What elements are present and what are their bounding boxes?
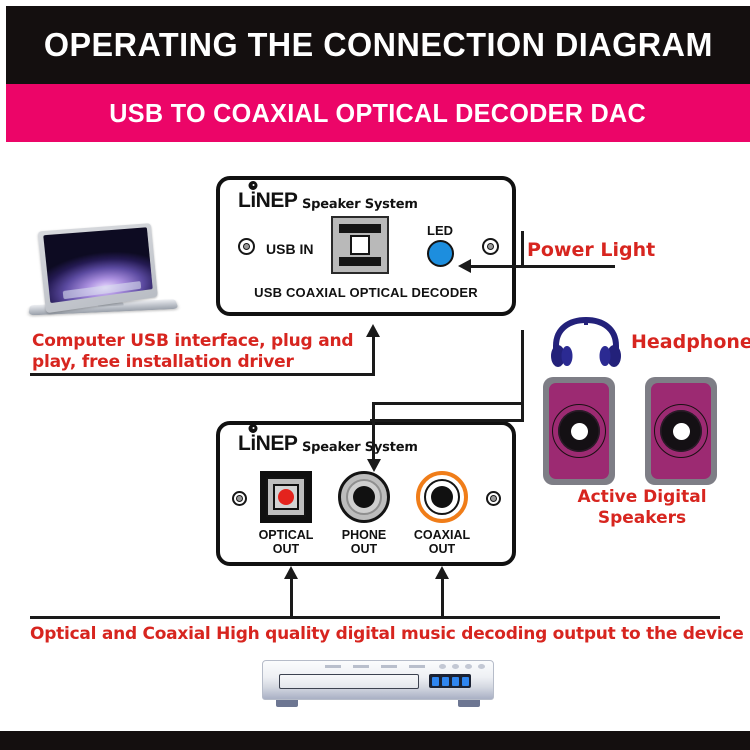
brand-wordmark: LiNEP	[238, 190, 297, 211]
page-title: OPERATING THE CONNECTION DIAGRAM	[43, 26, 712, 64]
page-subtitle: USB TO COAXIAL OPTICAL DECODER DAC	[110, 98, 647, 129]
usb-decoder-top-unit[interactable]: LiNEP Speaker System USB IN LED USB COAX…	[216, 176, 516, 316]
brand-lens-icon: i	[250, 433, 255, 454]
optical-red-light-icon	[278, 489, 294, 505]
diagram-canvas: OPERATING THE CONNECTION DIAGRAM USB TO …	[0, 0, 750, 750]
optical-out-riser	[290, 578, 293, 618]
headphone-icon	[546, 316, 626, 368]
dvd-buttons[interactable]	[439, 664, 485, 669]
screw-top-left	[238, 238, 255, 255]
toslink-optical-port-icon[interactable]	[260, 471, 312, 523]
brand-logo-bottom: LiNEP Speaker System	[238, 433, 418, 454]
toslink-inner	[266, 477, 306, 517]
power-light-note: Power Light	[527, 239, 655, 261]
power-light-arrow	[458, 259, 471, 273]
screw-top-right	[482, 238, 499, 255]
phone-out-feed-horizontal	[372, 402, 522, 405]
speaker-face	[549, 383, 609, 479]
dvd-body	[262, 660, 494, 700]
laptop-dock	[63, 281, 142, 299]
headphone-bus-vertical	[521, 330, 524, 422]
headphone-bus-horizontal	[370, 419, 524, 422]
brand-tagline: Speaker System	[302, 441, 418, 454]
speaker-cone	[654, 404, 708, 458]
coaxial-jack-ring	[424, 479, 460, 515]
coaxial-out-arrow	[435, 566, 449, 579]
led-label: LED	[427, 223, 453, 238]
usb-in-label: USB IN	[266, 241, 313, 257]
phone-out-feed-vertical	[372, 402, 375, 462]
usb-port-inner	[339, 224, 381, 266]
optical-out-arrow	[284, 566, 298, 579]
headphone-note: Headphone	[631, 331, 750, 353]
phone-jack-icon[interactable]	[338, 471, 390, 523]
usb-note-arrow	[366, 324, 380, 337]
speaker-cone	[552, 404, 606, 458]
screw-bottom-left	[232, 491, 247, 506]
optical-out-label: OPTICAL OUT	[246, 528, 326, 556]
footer-band	[0, 731, 750, 750]
coaxial-out-riser	[441, 578, 444, 618]
dvd-foot-left	[276, 700, 298, 707]
dvd-player-icon	[262, 660, 494, 710]
toslink-aperture	[273, 484, 299, 510]
header-subtitle-band: USB TO COAXIAL OPTICAL DECODER DAC	[6, 84, 750, 142]
rca-coaxial-jack-icon[interactable]	[416, 471, 468, 523]
active-speakers-note: Active Digital Speakers	[562, 487, 722, 529]
active-speaker-right	[645, 377, 717, 485]
headphone-svg	[546, 316, 626, 368]
brand-wordmark: LiNEP	[238, 433, 297, 454]
usb-type-b-port-icon[interactable]	[331, 216, 389, 274]
dvd-foot-right	[458, 700, 480, 707]
phone-jack-hole	[353, 486, 375, 508]
dvd-micro-labels	[325, 665, 425, 668]
usb-note-text: Computer USB interface, plug and play, f…	[32, 331, 362, 373]
dvd-disc-tray[interactable]	[279, 674, 419, 689]
speaker-cone-inner	[558, 410, 600, 452]
power-light-drop	[521, 231, 524, 266]
brand-tagline: Speaker System	[302, 198, 418, 211]
brand-lens-icon: i	[250, 190, 255, 211]
usb-port-center	[350, 235, 370, 255]
power-light-line	[470, 265, 615, 268]
speaker-dustcap	[673, 423, 690, 440]
laptop-screen	[43, 227, 153, 303]
top-unit-caption: USB COAXIAL OPTICAL DECODER	[220, 285, 512, 300]
phone-jack-ring	[346, 479, 382, 515]
speaker-face	[651, 383, 711, 479]
screw-bottom-right	[486, 491, 501, 506]
decoder-output-bottom-unit[interactable]: LiNEP Speaker System OPTICAL OUT PHONE O…	[216, 421, 516, 566]
header-title-band: OPERATING THE CONNECTION DIAGRAM	[6, 6, 750, 84]
active-speaker-left	[543, 377, 615, 485]
bottom-note-text: Optical and Coaxial High quality digital…	[30, 624, 744, 644]
coaxial-jack-hole	[431, 486, 453, 508]
dvd-display	[429, 674, 471, 688]
led-indicator-icon	[427, 240, 454, 267]
phone-out-feed-arrow	[367, 459, 381, 472]
coaxial-out-label: COAXIAL OUT	[402, 528, 482, 556]
usb-note-underline	[30, 373, 375, 376]
speaker-cone-inner	[660, 410, 702, 452]
speaker-dustcap	[571, 423, 588, 440]
phone-out-label: PHONE OUT	[324, 528, 404, 556]
brand-logo-top: LiNEP Speaker System	[238, 190, 418, 211]
laptop-icon	[28, 225, 180, 325]
bottom-bus-line	[30, 616, 720, 619]
usb-note-riser	[372, 336, 375, 374]
